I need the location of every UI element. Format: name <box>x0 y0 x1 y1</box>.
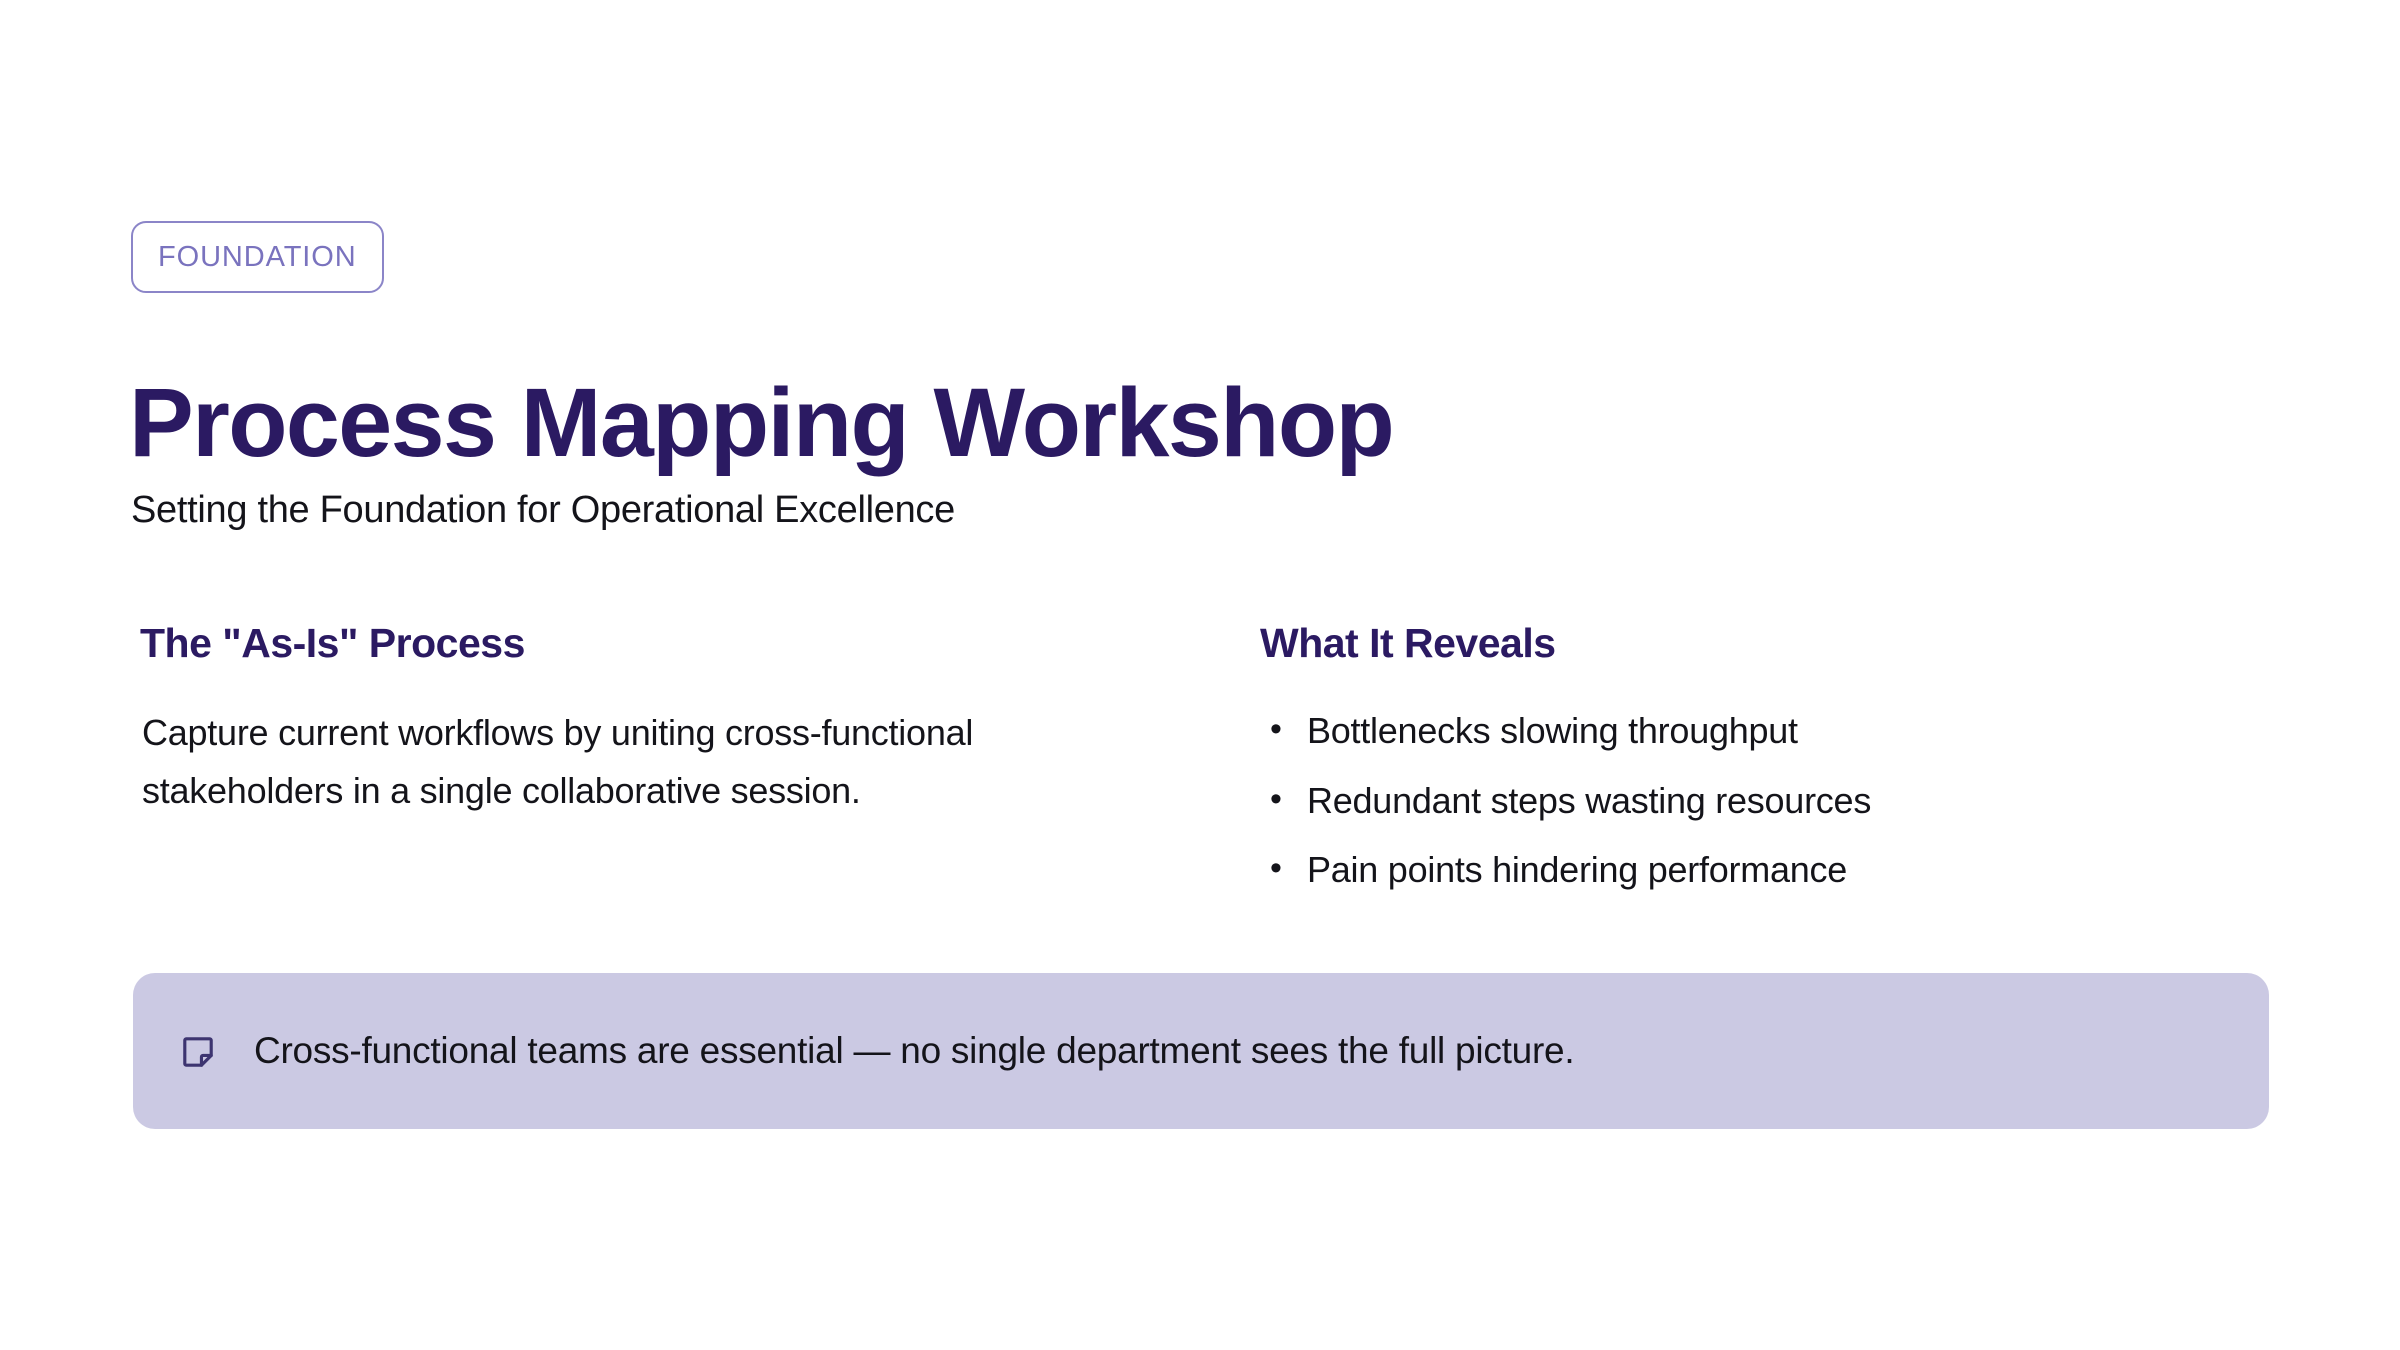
bullet-marker-icon: • <box>1260 707 1307 753</box>
page-subtitle: Setting the Foundation for Operational E… <box>131 488 955 534</box>
list-item-label: Pain points hindering performance <box>1307 846 1847 895</box>
callout-text: Cross-functional teams are essential — n… <box>254 1027 1574 1075</box>
list-item-label: Bottlenecks slowing throughput <box>1307 707 1798 756</box>
page-title: Process Mapping Workshop <box>129 371 1393 476</box>
content-columns: The "As-Is" Process Capture current work… <box>0 620 2400 895</box>
bullet-marker-icon: • <box>1260 846 1307 892</box>
column-as-is-process: The "As-Is" Process Capture current work… <box>0 620 1130 895</box>
column-heading-as-is-process: The "As-Is" Process <box>140 620 1070 667</box>
column-body-as-is-process: Capture current workflows by uniting cro… <box>142 704 1070 821</box>
list-item-label: Redundant steps wasting resources <box>1307 777 1871 826</box>
eyebrow-badge: FOUNDATION <box>131 221 384 293</box>
callout-banner: Cross-functional teams are essential — n… <box>133 973 2269 1129</box>
slide-canvas: FOUNDATION Process Mapping Workshop Sett… <box>0 0 2400 1350</box>
column-heading-what-it-reveals: What It Reveals <box>1260 620 2200 667</box>
bullet-marker-icon: • <box>1260 777 1307 823</box>
list-item: • Bottlenecks slowing throughput <box>1260 707 2200 756</box>
reveals-bullet-list: • Bottlenecks slowing throughput • Redun… <box>1260 707 2200 895</box>
sticky-note-icon <box>180 1034 216 1070</box>
eyebrow-badge-label: FOUNDATION <box>158 243 357 272</box>
list-item: • Redundant steps wasting resources <box>1260 777 2200 826</box>
list-item: • Pain points hindering performance <box>1260 846 2200 895</box>
column-what-it-reveals: What It Reveals • Bottlenecks slowing th… <box>1130 620 2260 895</box>
